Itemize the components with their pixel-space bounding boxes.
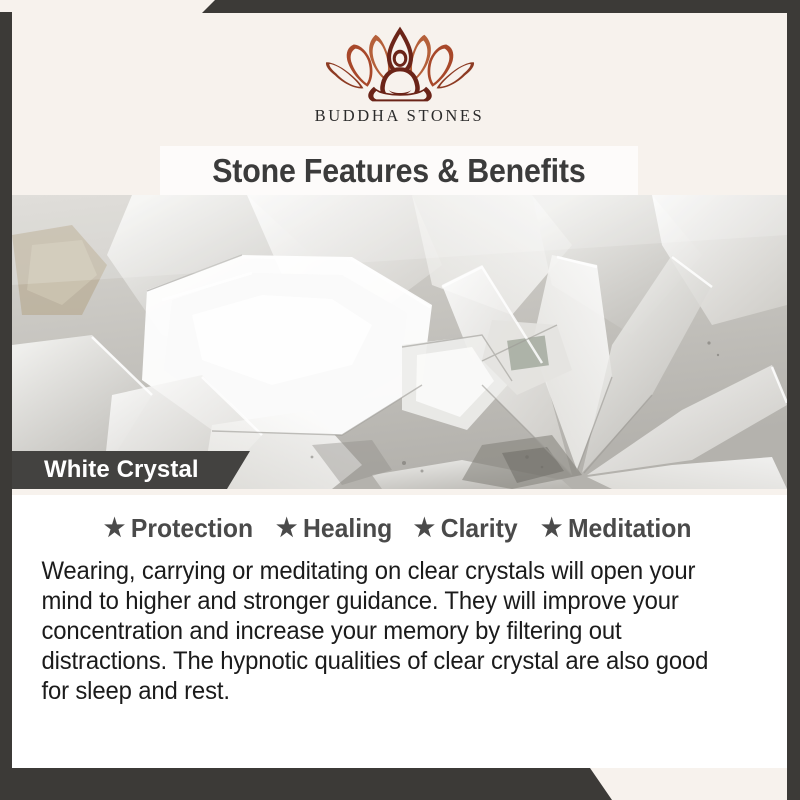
star-icon: ★ (104, 516, 125, 541)
star-icon: ★ (276, 516, 297, 541)
star-icon: ★ (541, 516, 562, 541)
benefit-label: Meditation (568, 513, 692, 544)
poster: BUDDHA STONES Stone Features & Benefits (0, 0, 800, 800)
stone-name-banner: White Crystal (12, 451, 250, 489)
benefit-item-meditation: ★ Meditation (541, 513, 692, 544)
page-title-band: Stone Features & Benefits (160, 146, 638, 195)
star-icon: ★ (414, 516, 435, 541)
frame-bottom-bar (0, 768, 800, 800)
page-title: Stone Features & Benefits (212, 152, 585, 190)
benefit-item-protection: ★ Protection (104, 513, 253, 544)
brand-header: BUDDHA STONES (12, 13, 787, 143)
frame-left-bar (0, 12, 12, 800)
frame-right-bar (787, 0, 800, 800)
benefit-item-healing: ★ Healing (276, 513, 392, 544)
benefit-label: Clarity (441, 513, 518, 544)
description-text: Wearing, carrying or meditating on clear… (30, 556, 732, 706)
content-area: ★ Protection ★ Healing ★ Clarity ★ Medit… (12, 495, 787, 768)
stone-name-label: White Crystal (12, 456, 199, 484)
white-crystal-cluster-photo: White Crystal (12, 195, 787, 489)
lotus-meditation-icon (316, 25, 484, 103)
benefit-label: Protection (131, 513, 253, 544)
benefit-item-clarity: ★ Clarity (414, 513, 518, 544)
poster-canvas: BUDDHA STONES Stone Features & Benefits (12, 13, 787, 768)
benefit-label: Healing (303, 513, 392, 544)
brand-name: BUDDHA STONES (315, 106, 485, 126)
benefits-row: ★ Protection ★ Healing ★ Clarity ★ Medit… (30, 513, 765, 544)
